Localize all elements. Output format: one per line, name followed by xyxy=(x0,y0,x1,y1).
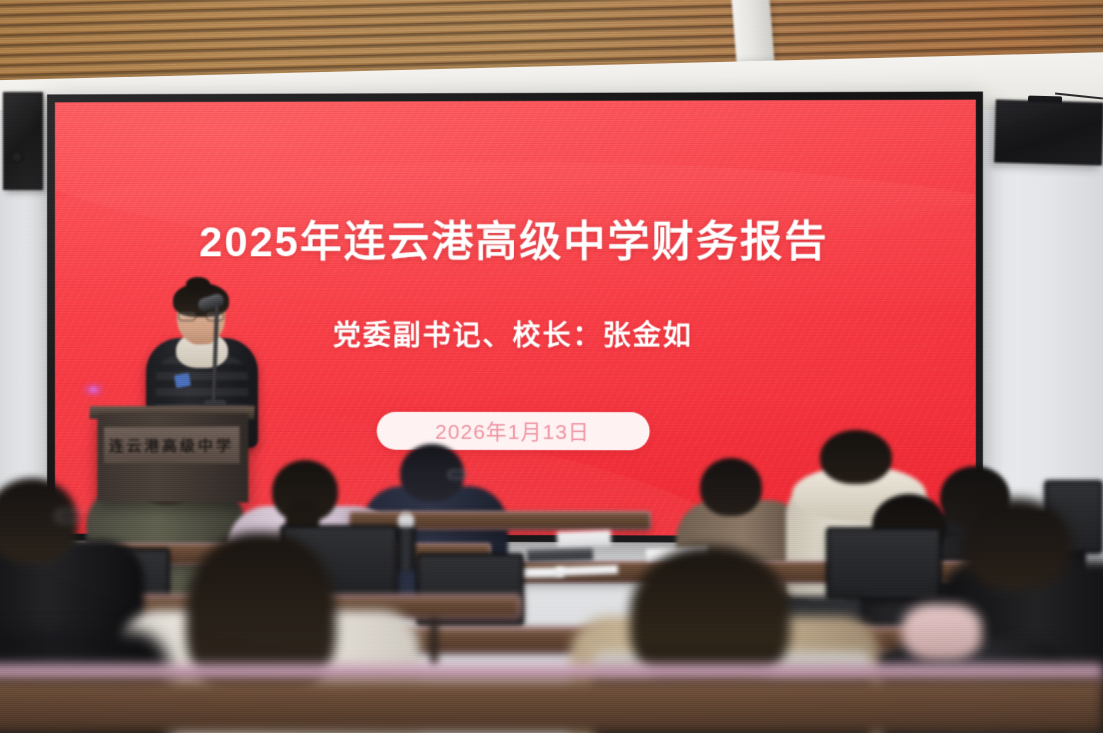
document-folder xyxy=(557,530,612,548)
desk-leg xyxy=(430,618,438,666)
glasses-icon xyxy=(448,470,466,479)
podium-nameplate: 连云港高级中学 xyxy=(103,426,240,464)
collar-icon xyxy=(902,604,982,660)
bottle-loop-icon xyxy=(401,512,411,519)
presenter-hair-bun xyxy=(186,277,210,291)
photo-scene: 2025年连云港高级中学财务报告 党委副书记、校长：张金如 2026年1月13日 xyxy=(0,0,1103,733)
glasses-icon xyxy=(56,510,82,522)
wall-speaker-icon xyxy=(3,92,43,190)
slide-date-text: 2026年1月13日 xyxy=(435,416,590,446)
desk xyxy=(0,680,1103,733)
slide-date-badge: 2026年1月13日 xyxy=(376,412,649,450)
slide-title: 2025年连云港高级中学财务报告 xyxy=(55,207,976,269)
notebook xyxy=(527,548,593,562)
lens-flare-icon xyxy=(81,381,107,399)
podium-sign-text: 连云港高级中学 xyxy=(109,434,234,455)
presenter-badge xyxy=(174,373,191,388)
chair-back xyxy=(826,527,942,601)
water-bottle xyxy=(396,525,416,571)
podium: 连云港高级中学 xyxy=(97,413,248,502)
wall-mounted-display xyxy=(994,100,1103,166)
